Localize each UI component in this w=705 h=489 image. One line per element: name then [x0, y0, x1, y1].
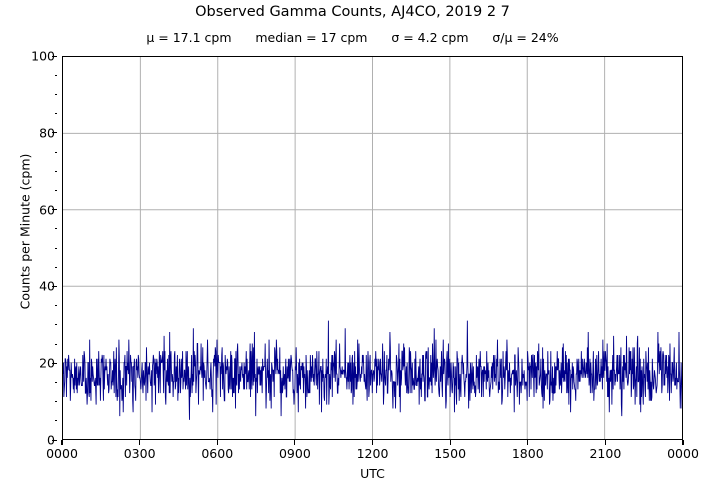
x-tick-label: 2100	[570, 446, 640, 461]
chart-subtitle: μ = 17.1 cpm median = 17 cpm σ = 4.2 cpm…	[0, 30, 705, 45]
y-tick-mark	[52, 56, 57, 57]
y-minor-tick-mark	[55, 344, 58, 345]
x-tick-mark	[139, 440, 140, 445]
x-tick-label: 0600	[182, 446, 252, 461]
y-tick-mark	[52, 209, 57, 210]
y-tick-mark	[52, 132, 57, 133]
y-tick-label: 100	[7, 49, 55, 64]
x-tick-label: 0900	[260, 446, 330, 461]
x-tick-label: 1800	[493, 446, 563, 461]
x-tick-label: 1500	[415, 446, 485, 461]
x-tick-label: 0000	[27, 446, 97, 461]
x-tick-mark	[527, 440, 528, 445]
x-tick-mark	[682, 440, 683, 445]
chart-title: Observed Gamma Counts, AJ4CO, 2019 2 7	[0, 4, 705, 20]
y-minor-tick-mark	[55, 267, 58, 268]
y-tick-label: 20	[7, 356, 55, 371]
x-tick-mark	[605, 440, 606, 445]
y-minor-tick-mark	[55, 190, 58, 191]
x-tick-mark	[372, 440, 373, 445]
x-tick-label: 0300	[105, 446, 175, 461]
y-axis-label: Counts per Minute (cpm)	[18, 112, 33, 352]
y-minor-tick-mark	[55, 324, 58, 325]
y-minor-tick-mark	[55, 382, 58, 383]
data-series-gamma-counts	[63, 57, 682, 439]
x-tick-mark	[450, 440, 451, 445]
x-tick-label: 1200	[338, 446, 408, 461]
plot-area	[62, 56, 683, 440]
x-tick-mark	[294, 440, 295, 445]
y-minor-tick-mark	[55, 420, 58, 421]
y-tick-mark	[52, 440, 57, 441]
y-minor-tick-mark	[55, 75, 58, 76]
x-tick-label: 0000	[648, 446, 705, 461]
x-tick-mark	[217, 440, 218, 445]
y-tick-mark	[52, 286, 57, 287]
x-axis-label: UTC	[62, 466, 683, 481]
y-minor-tick-mark	[55, 228, 58, 229]
y-tick-mark	[52, 363, 57, 364]
y-minor-tick-mark	[55, 248, 58, 249]
x-axis-ticks: 000003000600090012001500180021000000	[62, 446, 683, 466]
y-minor-tick-mark	[55, 152, 58, 153]
chart-figure: Observed Gamma Counts, AJ4CO, 2019 2 7 μ…	[0, 0, 705, 489]
y-minor-tick-mark	[55, 171, 58, 172]
y-minor-tick-mark	[55, 401, 58, 402]
x-tick-mark	[61, 440, 62, 445]
y-minor-tick-mark	[55, 113, 58, 114]
y-minor-tick-mark	[55, 305, 58, 306]
y-minor-tick-mark	[55, 94, 58, 95]
